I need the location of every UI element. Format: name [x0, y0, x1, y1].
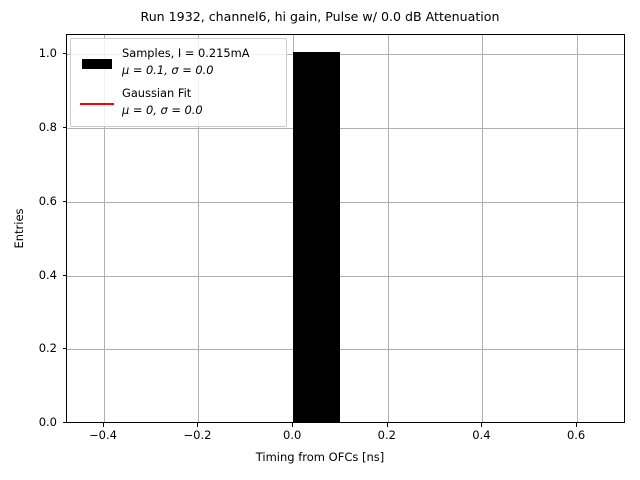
legend-line-icon	[80, 103, 114, 105]
xtick-mark-0	[103, 423, 104, 427]
gridline-x-0.2	[388, 35, 389, 422]
ytick-mark-5	[63, 53, 67, 54]
gridline-x-0.4	[482, 35, 483, 422]
xtick-mark-5	[576, 423, 577, 427]
gridline-x-0.6	[577, 35, 578, 422]
legend-patch-icon	[82, 59, 112, 69]
legend-entry-gaussian-fit-stats: μ = 0, σ = 0.0	[122, 102, 286, 119]
ytick-mark-1	[63, 348, 67, 349]
legend-entry-gaussian-fit: Gaussian Fit μ = 0, σ = 0.0	[71, 84, 288, 124]
legend[interactable]: Samples, I = 0.215mA μ = 0.1, σ = 0.0 Ga…	[70, 38, 287, 127]
legend-entry-gaussian-fit-text: Gaussian Fit μ = 0, σ = 0.0	[122, 85, 286, 118]
gridline-y-0.8	[67, 128, 624, 129]
xtick-label-0.6: 0.6	[546, 429, 606, 442]
legend-entry-gaussian-fit-label: Gaussian Fit	[122, 85, 286, 102]
legend-entry-samples-stats: μ = 0.1, σ = 0.0	[122, 62, 286, 79]
xtick-label-0.0: 0.0	[262, 429, 322, 442]
x-axis-label: Timing from OFCs [ns]	[0, 450, 640, 464]
gridline-y-0.4	[67, 276, 624, 277]
xtick-mark-4	[481, 423, 482, 427]
xtick-label--0.2: −0.2	[168, 429, 228, 442]
xtick-mark-1	[197, 423, 198, 427]
xtick-label-0.4: 0.4	[451, 429, 511, 442]
ytick-mark-4	[63, 127, 67, 128]
xtick-label--0.4: −0.4	[73, 429, 133, 442]
xtick-label-0.2: 0.2	[357, 429, 417, 442]
matplotlib-figure: Run 1932, channel6, hi gain, Pulse w/ 0.…	[0, 0, 640, 480]
xtick-mark-2	[292, 423, 293, 427]
legend-entry-samples-text: Samples, I = 0.215mA μ = 0.1, σ = 0.0	[122, 45, 286, 78]
legend-entry-samples: Samples, I = 0.215mA μ = 0.1, σ = 0.0	[71, 44, 288, 84]
ytick-mark-2	[63, 275, 67, 276]
ytick-mark-3	[63, 201, 67, 202]
gridline-y-0.6	[67, 202, 624, 203]
xtick-mark-3	[387, 423, 388, 427]
histogram-bar	[293, 52, 340, 422]
chart-title: Run 1932, channel6, hi gain, Pulse w/ 0.…	[0, 9, 640, 24]
y-axis-label: Entries	[12, 34, 28, 423]
legend-entry-samples-label: Samples, I = 0.215mA	[122, 45, 286, 62]
ytick-mark-0	[63, 422, 67, 423]
gridline-y-0.2	[67, 349, 624, 350]
